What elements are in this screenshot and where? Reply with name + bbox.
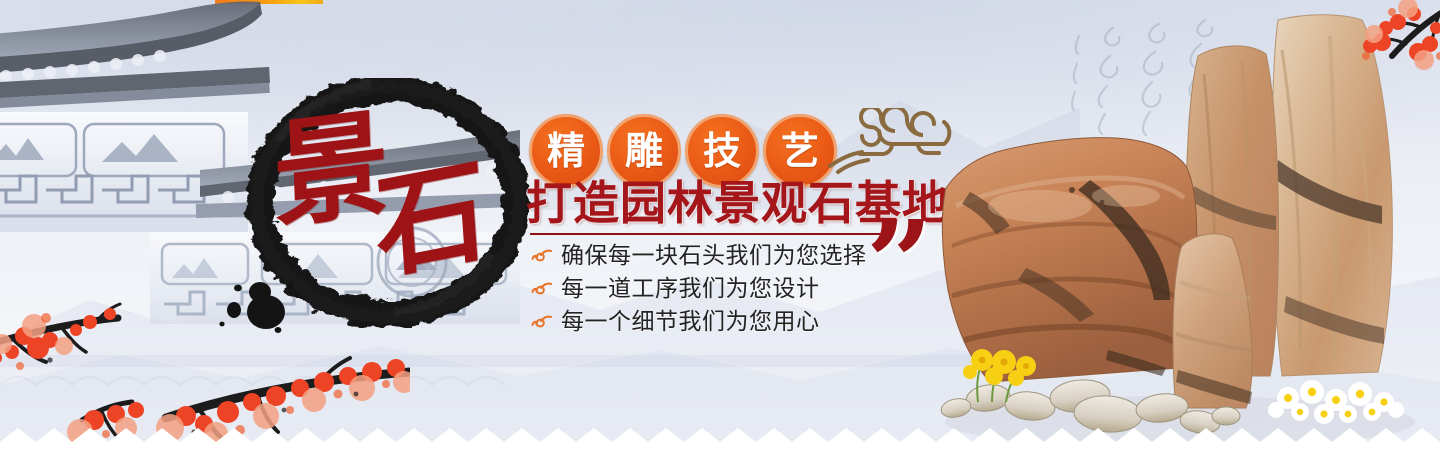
feature-list: 确保每一块石头我们为您选择 每一道工序我们为您设计 每一个细节我们为您用心 (530, 240, 867, 339)
swirl-ornament-icon (530, 248, 552, 266)
quotation-mark-icon: ” (866, 206, 933, 322)
list-item: 每一个细节我们为您用心 (530, 306, 867, 339)
swirl-ornament-icon (530, 281, 552, 299)
headline-underline (530, 233, 882, 235)
swirl-ornament-icon (530, 314, 552, 332)
logo-char-shi: 石 (372, 153, 490, 287)
brand-logo: 景 石 (243, 78, 533, 328)
list-item-label: 每一个细节我们为您用心 (561, 306, 820, 339)
list-item-label: 每一道工序我们为您设计 (561, 273, 820, 306)
list-item: 确保每一块石头我们为您选择 (530, 240, 867, 273)
list-item: 每一道工序我们为您设计 (530, 273, 867, 306)
promo-banner: 景 石 精 雕 技 艺 (0, 0, 1440, 450)
zigzag-border (0, 428, 1440, 450)
plum-blossom-branch-right (1352, 0, 1440, 122)
list-item-label: 确保每一块石头我们为您选择 (561, 240, 867, 273)
